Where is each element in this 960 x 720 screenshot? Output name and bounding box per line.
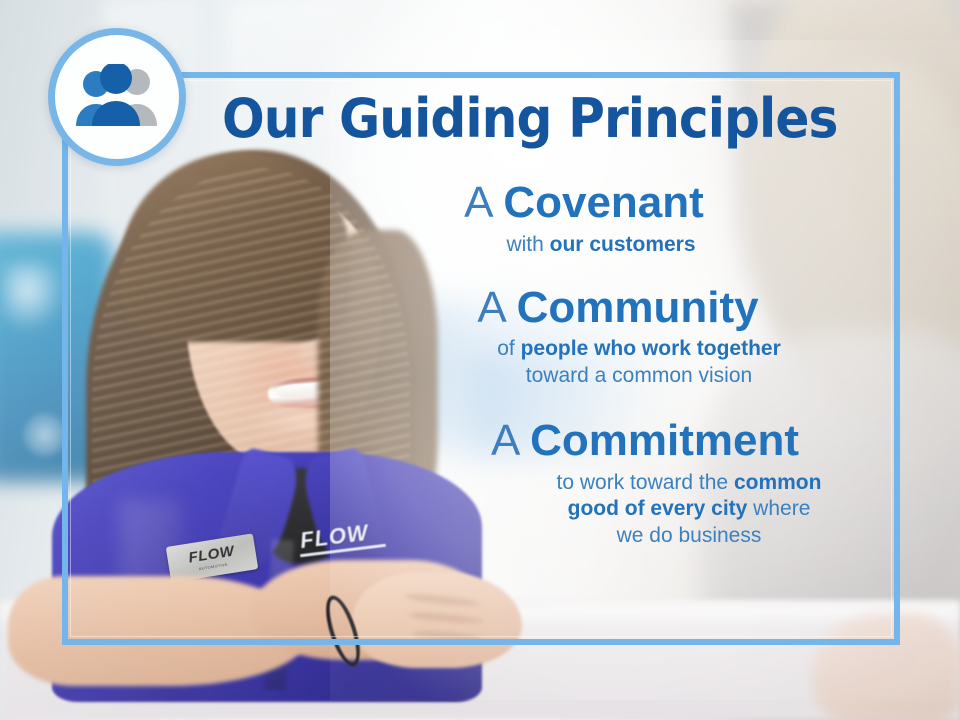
people-group-badge [48,28,186,166]
principle-community: A Community of people who work together … [300,285,880,390]
principle-commitment-sub-after2: where [747,497,810,520]
principle-community-sub-prefix: of [497,337,520,360]
background-car-highlight [2,262,66,332]
principle-covenant-subtitle: with our customers [300,232,868,259]
principle-commitment-title: A Commitment [410,418,880,465]
principle-community-title: A Community [356,285,880,332]
principle-commitment-sub-bold2: good of every city [568,497,748,520]
principle-community-subtitle: of people who work together toward a com… [356,336,880,390]
principle-commitment-word: Commitment [530,416,799,465]
principle-commitment-sub-bold: common [734,471,822,494]
principle-community-article: A [477,283,504,332]
principles-list: A Covenant with our customers A Communit… [300,180,880,550]
principle-covenant-word: Covenant [503,178,703,227]
page-title: Our Guiding Principles [222,92,837,146]
people-group-icon [71,64,163,130]
principle-commitment-article: A [491,416,518,465]
principle-commitment-sub-line2: we do business [617,524,762,547]
principle-commitment: A Commitment to work toward the common g… [300,418,880,550]
principle-covenant-sub-prefix: with [506,233,549,256]
principle-covenant-article: A [464,178,491,227]
principle-community-sub-line2: toward a common vision [526,364,752,387]
guiding-principles-graphic: FLOW FLOW AUTOMOTIVE [0,0,960,720]
principle-commitment-sub-prefix: to work toward the [557,471,734,494]
principle-covenant-title: A Covenant [300,180,868,227]
name-badge-logo: FLOW [187,544,235,566]
principle-community-sub-bold: people who work together [521,337,781,360]
background-car-emblem [22,412,68,458]
principle-community-word: Community [517,283,759,332]
principle-covenant-sub-bold: our customers [550,233,696,256]
background-person-hand [812,614,960,720]
principle-covenant: A Covenant with our customers [300,180,880,259]
principle-commitment-subtitle: to work toward the common good of every … [410,470,880,551]
